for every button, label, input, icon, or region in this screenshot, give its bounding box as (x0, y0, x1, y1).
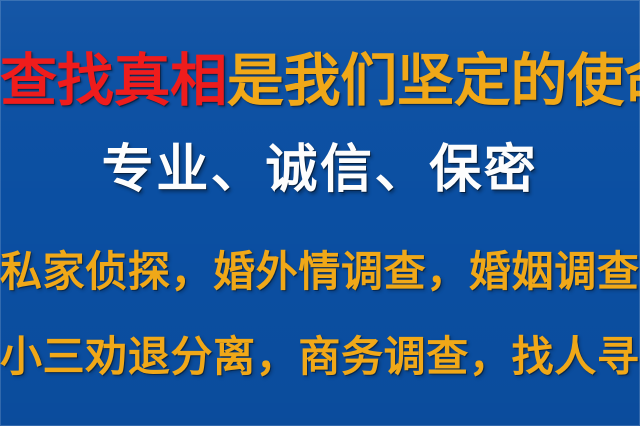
slogan-text: 专业、诚信、保密 (0, 136, 640, 204)
headline-rest-text: 是我们坚定的使命 (227, 46, 640, 116)
advertisement-banner: 查找真相是我们坚定的使命 专业、诚信、保密 私家侦探，婚外情调查，婚姻调查， 小… (0, 0, 640, 426)
services-line-1: 私家侦探，婚外情调查，婚姻调查， (0, 243, 640, 301)
headline: 查找真相是我们坚定的使命 (0, 46, 640, 116)
headline-emphasis-text: 查找真相 (0, 46, 227, 116)
services-line-2: 小三劝退分离，商务调查，找人寻人 (0, 328, 640, 386)
